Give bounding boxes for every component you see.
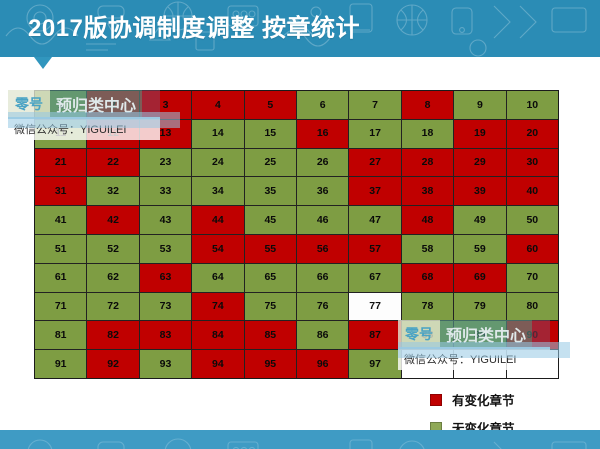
grid-cell[interactable]: 12	[87, 120, 138, 148]
grid-cell[interactable]: 72	[87, 293, 138, 321]
grid-cell[interactable]: 6	[297, 91, 348, 119]
grid-cell[interactable]: 16	[297, 120, 348, 148]
grid-cell[interactable]: 14	[192, 120, 243, 148]
grid-cell[interactable]: 82	[87, 321, 138, 349]
grid-cell[interactable]: 7	[349, 91, 400, 119]
grid-cell[interactable]: 60	[507, 235, 558, 263]
grid-cell[interactable]: 18	[402, 120, 453, 148]
grid-cell[interactable]: 20	[507, 120, 558, 148]
grid-cell[interactable]: 69	[454, 264, 505, 292]
grid-cell[interactable]: 73	[140, 293, 191, 321]
grid-cell[interactable]: 38	[402, 177, 453, 205]
header-banner: 2017版协调制度调整 按章统计	[0, 0, 600, 57]
slide-canvas: 2017版协调制度调整 按章统计 12345678910111213141516…	[0, 0, 600, 449]
grid-cell[interactable]: 5	[245, 91, 296, 119]
grid-cell[interactable]: 88	[402, 321, 453, 349]
grid-cell[interactable]: 97	[349, 350, 400, 378]
grid-cell[interactable]: 61	[35, 264, 86, 292]
grid-cell[interactable]: 49	[454, 206, 505, 234]
grid-cell[interactable]: 15	[245, 120, 296, 148]
grid-cell[interactable]: 57	[349, 235, 400, 263]
grid-cell[interactable]: 39	[454, 177, 505, 205]
grid-cell[interactable]: 71	[35, 293, 86, 321]
grid-cell[interactable]: 50	[507, 206, 558, 234]
grid-cell[interactable]: 63	[140, 264, 191, 292]
grid-cell[interactable]: 74	[192, 293, 243, 321]
grid-cell[interactable]: 22	[87, 149, 138, 177]
grid-cell[interactable]: 17	[349, 120, 400, 148]
grid-cell[interactable]: 31	[35, 177, 86, 205]
grid-cell[interactable]: 13	[140, 120, 191, 148]
grid-cell-empty	[402, 350, 453, 378]
grid-cell[interactable]: 21	[35, 149, 86, 177]
grid-cell[interactable]: 47	[349, 206, 400, 234]
grid-cell[interactable]: 96	[297, 350, 348, 378]
legend-label-changed: 有变化章节	[452, 390, 515, 409]
grid-cell[interactable]: 75	[245, 293, 296, 321]
grid-cell[interactable]: 33	[140, 177, 191, 205]
grid-cell[interactable]: 4	[192, 91, 243, 119]
grid-cell[interactable]: 24	[192, 149, 243, 177]
grid-cell[interactable]: 52	[87, 235, 138, 263]
grid-cell[interactable]: 70	[507, 264, 558, 292]
grid-cell[interactable]: 86	[297, 321, 348, 349]
grid-cell[interactable]: 3	[140, 91, 191, 119]
grid-cell[interactable]: 56	[297, 235, 348, 263]
grid-cell[interactable]: 30	[507, 149, 558, 177]
legend-item-changed: 有变化章节	[430, 390, 515, 409]
grid-cell[interactable]: 11	[35, 120, 86, 148]
grid-cell[interactable]: 34	[192, 177, 243, 205]
grid-cell[interactable]: 48	[402, 206, 453, 234]
grid-cell[interactable]: 36	[297, 177, 348, 205]
grid-cell[interactable]: 62	[87, 264, 138, 292]
grid-cell[interactable]: 46	[297, 206, 348, 234]
grid-cell[interactable]: 45	[245, 206, 296, 234]
grid-cell[interactable]: 55	[245, 235, 296, 263]
grid-cell[interactable]: 89	[454, 321, 505, 349]
grid-cell[interactable]: 84	[192, 321, 243, 349]
legend-swatch-red-icon	[430, 394, 442, 406]
grid-cell[interactable]: 26	[297, 149, 348, 177]
grid-cell[interactable]: 8	[402, 91, 453, 119]
grid-cell[interactable]: 9	[454, 91, 505, 119]
grid-cell[interactable]: 58	[402, 235, 453, 263]
grid-cell[interactable]: 32	[87, 177, 138, 205]
grid-cell[interactable]: 65	[245, 264, 296, 292]
grid-cell[interactable]: 40	[507, 177, 558, 205]
grid-cell[interactable]: 1	[35, 91, 86, 119]
grid-cell[interactable]: 27	[349, 149, 400, 177]
grid-cell[interactable]: 42	[87, 206, 138, 234]
grid-cell[interactable]: 23	[140, 149, 191, 177]
grid-cell[interactable]: 85	[245, 321, 296, 349]
grid-cell[interactable]: 78	[402, 293, 453, 321]
grid-cell[interactable]: 53	[140, 235, 191, 263]
grid-cell[interactable]: 81	[35, 321, 86, 349]
grid-cell[interactable]: 68	[402, 264, 453, 292]
grid-cell[interactable]: 67	[349, 264, 400, 292]
grid-cell[interactable]: 2	[87, 91, 138, 119]
chapter-status-grid: 1234567891011121314151617181920212223242…	[34, 90, 559, 379]
grid-cell[interactable]: 92	[87, 350, 138, 378]
grid-cell[interactable]: 87	[349, 321, 400, 349]
grid-cell[interactable]: 44	[192, 206, 243, 234]
grid-cell[interactable]: 10	[507, 91, 558, 119]
footer-line-art-pattern	[0, 430, 600, 449]
grid-cell[interactable]: 76	[297, 293, 348, 321]
grid-cell[interactable]: 66	[297, 264, 348, 292]
triangle-down-icon	[34, 57, 52, 69]
grid-cell[interactable]: 94	[192, 350, 243, 378]
grid-cell[interactable]: 35	[245, 177, 296, 205]
grid-cell[interactable]: 90	[507, 321, 558, 349]
grid-cell[interactable]: 64	[192, 264, 243, 292]
grid-cell[interactable]: 83	[140, 321, 191, 349]
grid-cell[interactable]: 93	[140, 350, 191, 378]
grid-cell[interactable]: 43	[140, 206, 191, 234]
grid-cell-empty	[454, 350, 505, 378]
grid-cell[interactable]: 79	[454, 293, 505, 321]
grid-cell[interactable]: 51	[35, 235, 86, 263]
grid-cell[interactable]: 29	[454, 149, 505, 177]
grid-cell[interactable]: 19	[454, 120, 505, 148]
grid-cell[interactable]: 59	[454, 235, 505, 263]
footer-strip	[0, 430, 600, 449]
grid-cell[interactable]: 91	[35, 350, 86, 378]
grid-cell-empty	[507, 350, 558, 378]
grid-cell[interactable]: 77	[349, 293, 400, 321]
grid-cell[interactable]: 54	[192, 235, 243, 263]
grid-cell[interactable]: 41	[35, 206, 86, 234]
grid-cell[interactable]: 95	[245, 350, 296, 378]
grid-cell[interactable]: 37	[349, 177, 400, 205]
grid-cell[interactable]: 80	[507, 293, 558, 321]
page-title: 2017版协调制度调整 按章统计	[28, 8, 360, 43]
grid-cell[interactable]: 25	[245, 149, 296, 177]
grid-cell[interactable]: 28	[402, 149, 453, 177]
